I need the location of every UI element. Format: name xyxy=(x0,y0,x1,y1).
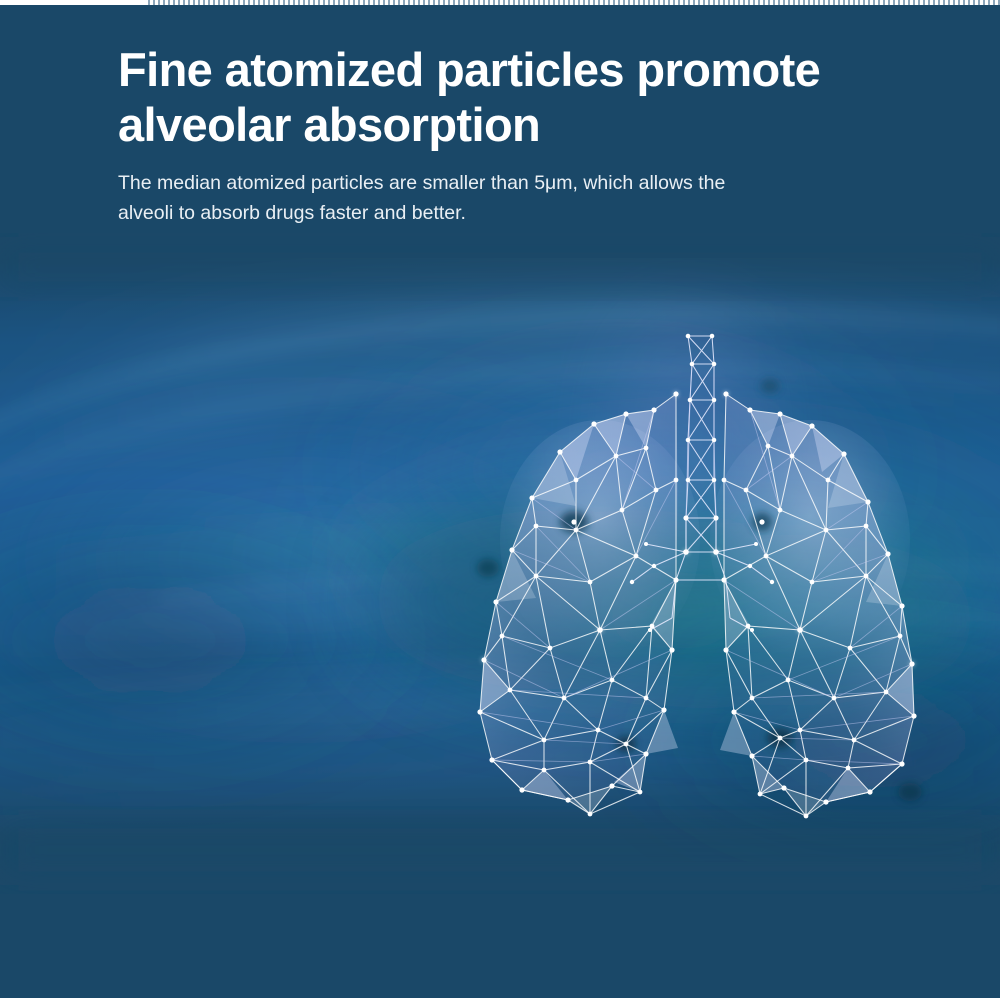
promo-panel: Fine atomized particles promote alveolar… xyxy=(0,0,1000,998)
top-edge-strip xyxy=(0,0,1000,5)
top-edge-dotted-texture xyxy=(148,0,1000,5)
low-poly-lungs-illustration xyxy=(440,330,960,820)
text-block: Fine atomized particles promote alveolar… xyxy=(118,42,938,228)
page-subtitle: The median atomized particles are smalle… xyxy=(118,169,888,228)
page-title: Fine atomized particles promote alveolar… xyxy=(118,42,938,153)
